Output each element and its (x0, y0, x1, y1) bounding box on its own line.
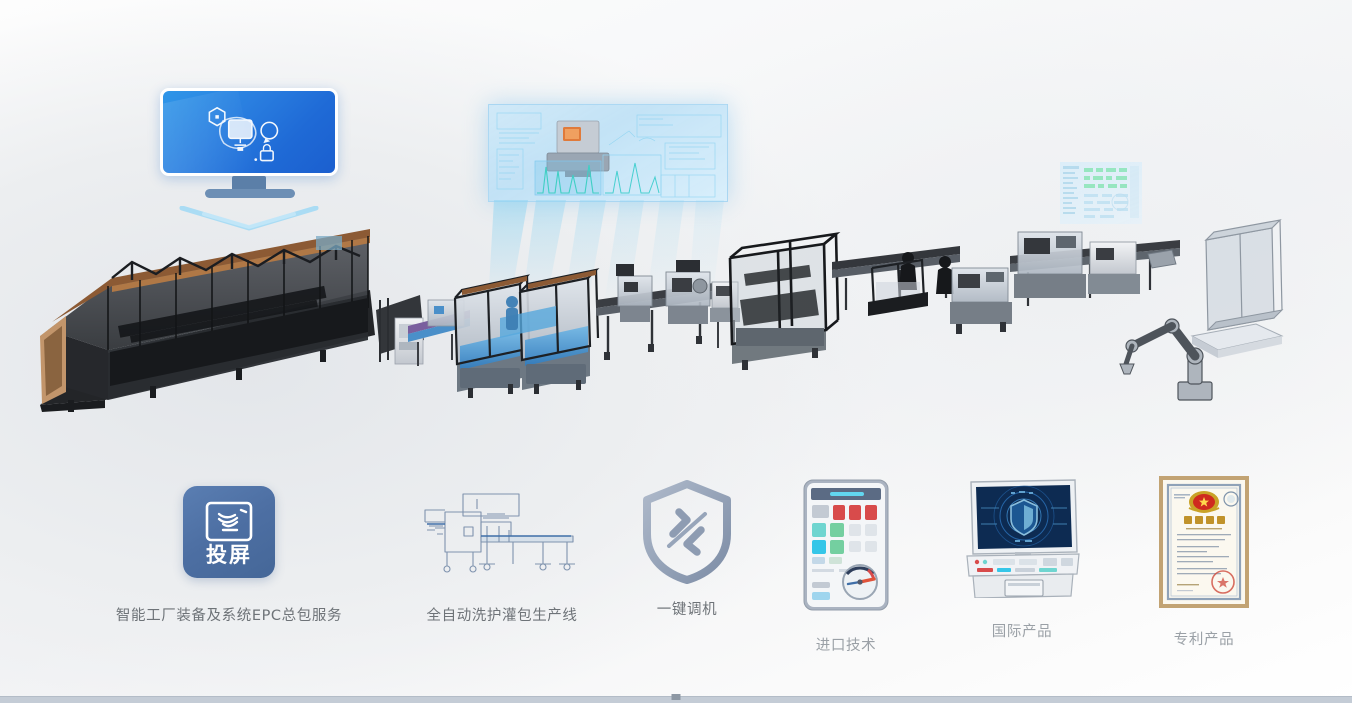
badge-text: 投屏 (183, 539, 275, 569)
hexagon-shield-icon (209, 108, 224, 126)
line-section-blue-filling (455, 270, 598, 398)
feature-label-production-line: 全自动洗护灌包生产线 (382, 604, 622, 625)
patent-certificate-icon (1153, 472, 1255, 612)
page-canvas: 投屏 智能工厂装备及系统EPC总包服务 (0, 0, 1352, 703)
national-emblem-icon (1189, 491, 1219, 513)
production-line-blueprint-icon (417, 486, 587, 578)
line-section-cartoning (832, 246, 1012, 334)
feature-label-epc-service: 智能工厂装备及系统EPC总包服务 (108, 604, 350, 625)
scrollbar-thumb[interactable] (672, 694, 681, 700)
line-section-dark-enclosure (40, 229, 375, 412)
feature-international-product[interactable]: 国际产品 (962, 478, 1082, 641)
line-section-robot-palletizer (1010, 220, 1282, 400)
control-console-icon (963, 478, 1081, 598)
line-section-conveyor-mid (596, 260, 740, 360)
feature-epc-service[interactable]: 投屏 智能工厂装备及系统EPC总包服务 (108, 486, 350, 625)
shield-wrench-icon (639, 480, 735, 584)
line-section-inspection-cage (730, 234, 838, 370)
feature-patented-product[interactable]: 专利产品 (1144, 472, 1264, 649)
feature-label-international-product: 国际产品 (962, 620, 1082, 641)
feature-label-imported-tech: 进口技术 (786, 634, 906, 655)
robot-arm (1120, 319, 1212, 400)
feature-label-one-key-tuning: 一键调机 (639, 598, 735, 619)
feature-imported-tech[interactable]: 进口技术 (786, 478, 906, 655)
pallet-stack (1206, 220, 1282, 330)
feature-label-patented-product: 专利产品 (1144, 628, 1264, 649)
feature-production-line[interactable]: 全自动洗护灌包生产线 (382, 486, 622, 625)
feature-one-key-tuning[interactable]: 一键调机 (639, 480, 735, 619)
automatic-washing-filling-packaging-line (0, 150, 1352, 440)
tablet-hmi-icon (798, 478, 894, 614)
horizontal-scrollbar[interactable] (0, 696, 1352, 703)
screen-cast-badge-icon: 投屏 (183, 486, 275, 578)
